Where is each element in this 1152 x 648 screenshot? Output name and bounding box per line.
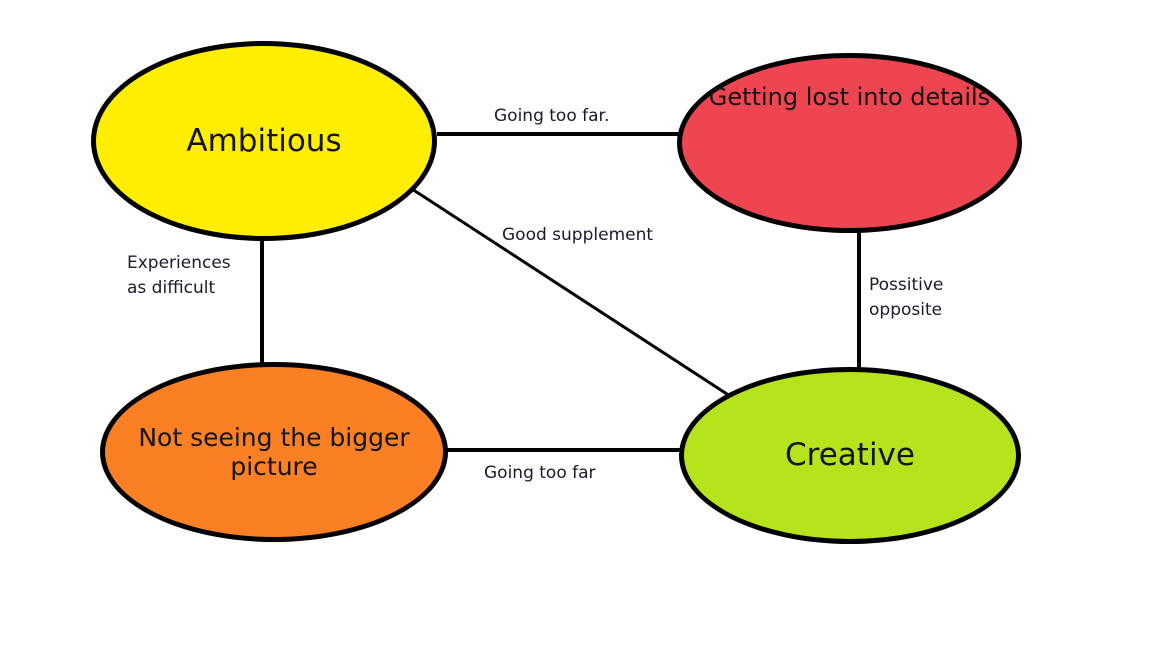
diagram-canvas: Ambitious Getting lost into details Not … [0,0,1152,648]
node-ambitious[interactable]: Ambitious [91,41,437,241]
edge-label-bigger-creative: Going too far [484,461,596,486]
node-ambitious-label: Ambitious [96,123,432,160]
node-getting-lost-into-details-label: Getting lost into details [682,58,1017,111]
edge-label-ambitious-creative: Good supplement [502,223,653,248]
edge-ambitious-creative[interactable] [412,189,730,396]
node-creative[interactable]: Creative [679,367,1021,544]
edge-label-ambitious-details: Going too far. [494,104,609,129]
node-not-seeing-the-bigger-picture-label: Not seeing the bigger picture [105,423,443,482]
edge-label-ambitious-bigger: Experiences as difficult [127,251,231,300]
node-creative-label: Creative [684,437,1016,474]
node-not-seeing-the-bigger-picture[interactable]: Not seeing the bigger picture [100,362,448,542]
edge-label-details-creative: Possitive opposite [869,273,943,322]
node-getting-lost-into-details[interactable]: Getting lost into details [677,53,1022,233]
